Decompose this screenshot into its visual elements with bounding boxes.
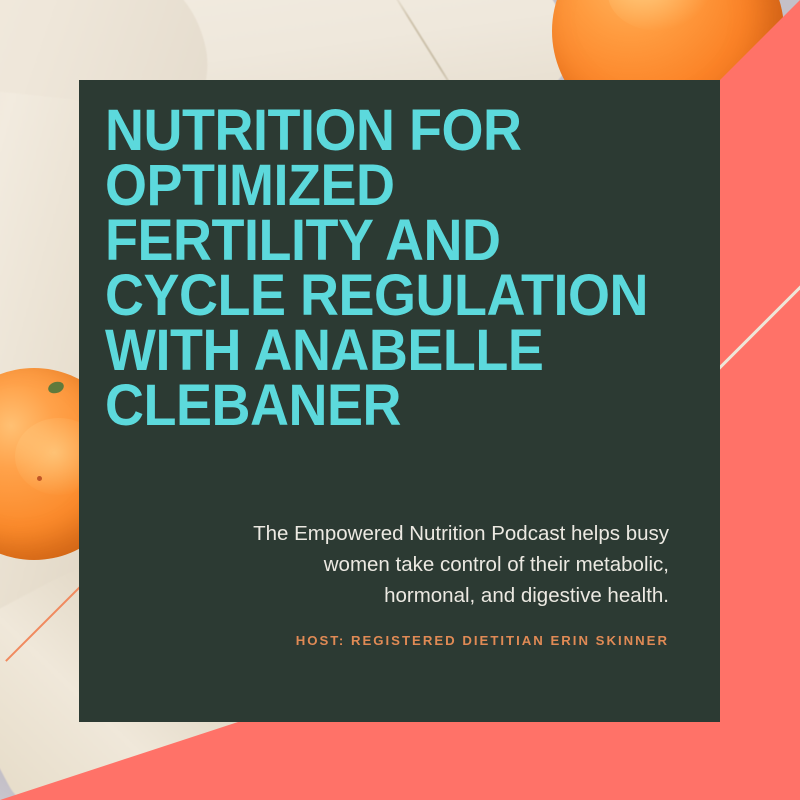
episode-title-line-2: Optimized [105,158,663,213]
show-description-line-2: women take control of their metabolic, [324,553,669,576]
episode-title-line-3: Fertility and [105,213,663,268]
episode-title-line-4: Cycle Regulation [105,268,663,323]
show-description: The Empowered Nutrition Podcast helps bu… [229,518,669,611]
episode-title-line-5: with Anabelle [105,323,663,378]
episode-title-line-6: Clebaner [105,378,663,433]
podcast-cover-art: Nutrition for Optimized Fertility and Cy… [0,0,800,800]
show-description-block: The Empowered Nutrition Podcast helps bu… [229,518,669,648]
orange-speck-icon [37,476,42,481]
episode-title-line-1: Nutrition for [105,103,663,158]
show-description-line-1: The Empowered Nutrition Podcast helps bu… [253,522,669,545]
host-credit: Host: Registered Dietitian Erin Skinner [229,633,669,648]
show-description-line-3: hormonal, and digestive health. [384,584,669,607]
content-card: Nutrition for Optimized Fertility and Cy… [79,80,720,722]
episode-title: Nutrition for Optimized Fertility and Cy… [105,103,663,433]
